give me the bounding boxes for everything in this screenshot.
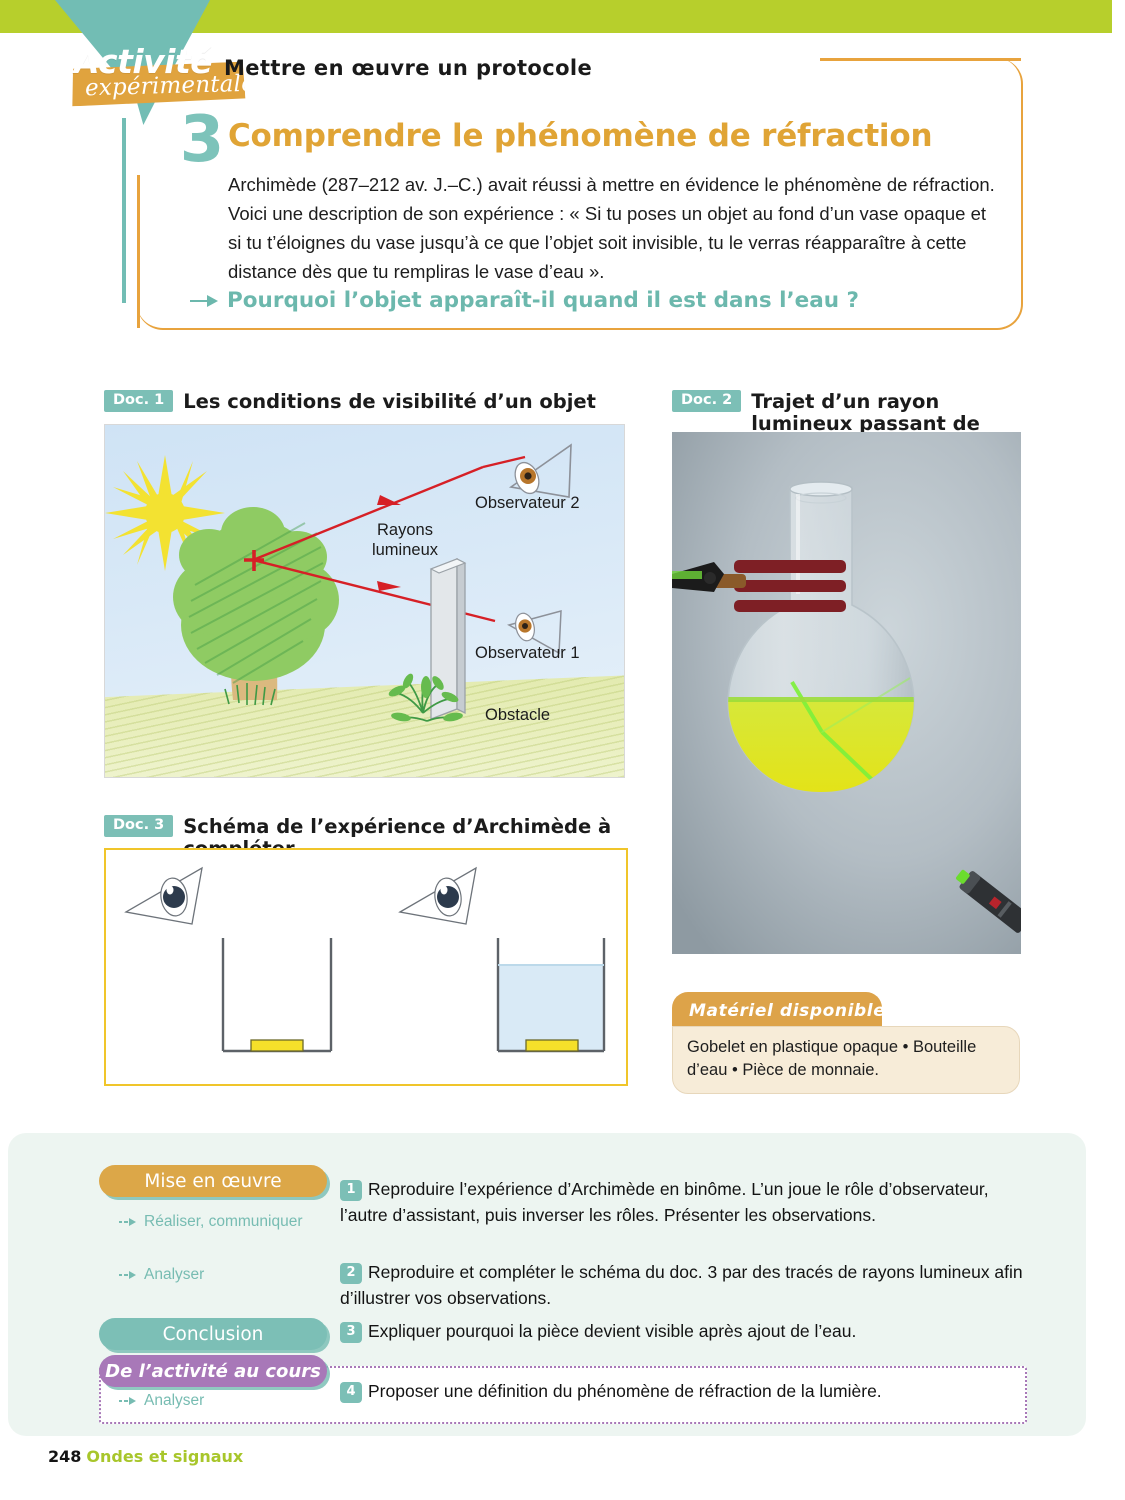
doc1-title: Les conditions de visibilité d’un objet <box>183 390 596 413</box>
pill-conclusion: Conclusion <box>99 1318 327 1350</box>
skill-label: Analyser <box>144 1392 204 1410</box>
task-text: Reproduire l’expérience d’Archimède en b… <box>340 1179 989 1225</box>
activity-body-text: Archimède (287–212 av. J.–C.) avait réus… <box>228 170 998 286</box>
footer-page-number: 248 <box>48 1447 81 1466</box>
label-rayons-lumineux: Rayons lumineux <box>360 520 450 560</box>
doc1-header: Doc. 1 Les conditions de visibilité d’un… <box>104 390 644 413</box>
task-item-2: 2Reproduire et compléter le schéma du do… <box>340 1259 1030 1311</box>
eye-observateur-2 <box>511 445 571 497</box>
skill-label: Analyser <box>144 1266 204 1284</box>
coin-left <box>251 1040 303 1051</box>
eye-left-icon <box>126 868 202 924</box>
task-text: Reproduire et compléter le schéma du doc… <box>340 1262 1023 1308</box>
skill-realiser-communiquer: Réaliser, communiquer <box>119 1213 303 1231</box>
doc3-tag: Doc. 3 <box>104 815 173 837</box>
task-item-1: 1Reproduire l’expérience d’Archimède en … <box>340 1176 1030 1228</box>
materiel-items: Gobelet en plastique opaque • Bouteille … <box>672 1026 1020 1094</box>
activity-number: 3 <box>168 108 236 172</box>
eye-right-icon <box>400 868 476 924</box>
doc3-schema <box>104 848 628 1086</box>
dashed-arrow-icon <box>119 1217 137 1227</box>
doc3-schema-svg <box>106 850 622 1080</box>
teal-connector-line <box>122 118 126 303</box>
skill-analyser-2: Analyser <box>119 1392 204 1410</box>
task-item-3: 3Expliquer pourquoi la pièce devient vis… <box>340 1318 1030 1344</box>
intro-card-top-edge <box>820 58 1021 61</box>
doc1-tag: Doc. 1 <box>104 390 173 412</box>
activity-question: Pourquoi l’objet apparaît-il quand il es… <box>227 288 859 313</box>
doc1-illustration: Observateur 2 Rayons lumineux Observateu… <box>104 424 625 778</box>
activity-title: Comprendre le phénomène de réfraction <box>228 118 998 154</box>
empty-glass <box>223 938 331 1051</box>
skill-label: Réaliser, communiquer <box>144 1213 303 1231</box>
page-footer: 248Ondes et signaux <box>48 1447 243 1466</box>
flask-photo-svg <box>672 432 1021 954</box>
intro-card-left-edge <box>137 175 140 328</box>
task-number-badge: 1 <box>340 1180 362 1201</box>
dashed-arrow-icon <box>119 1396 137 1406</box>
label-observateur-1: Observateur 1 <box>475 643 580 663</box>
dashed-arrow-icon <box>119 1270 137 1280</box>
task-item-4: 4Proposer une définition du phénomène de… <box>340 1378 1030 1404</box>
label-obstacle: Obstacle <box>485 705 550 725</box>
coin-right <box>526 1040 578 1051</box>
pill-mise-en-oeuvre: Mise en œuvre <box>99 1165 327 1197</box>
skill-analyser-1: Analyser <box>119 1266 204 1284</box>
doc2-tag: Doc. 2 <box>672 390 741 412</box>
footer-theme: Ondes et signaux <box>86 1447 243 1466</box>
activity-question-row: Pourquoi l’objet apparaît-il quand il es… <box>190 288 1020 313</box>
doc2-photograph <box>672 432 1021 954</box>
label-observateur-2: Observateur 2 <box>475 493 580 513</box>
task-number-badge: 3 <box>340 1322 362 1343</box>
task-number-badge: 2 <box>340 1263 362 1284</box>
pill-de-activite-au-cours: De l’activité au cours <box>99 1355 327 1387</box>
water-fill <box>498 965 604 1051</box>
task-text: Proposer une définition du phénomène de … <box>368 1381 882 1401</box>
materiel-heading: Matériel disponible <box>689 1001 885 1021</box>
task-text: Expliquer pourquoi la pièce devient visi… <box>368 1321 856 1341</box>
task-number-badge: 4 <box>340 1382 362 1403</box>
tree-illustration <box>173 507 339 705</box>
arrow-right-icon <box>190 293 218 309</box>
